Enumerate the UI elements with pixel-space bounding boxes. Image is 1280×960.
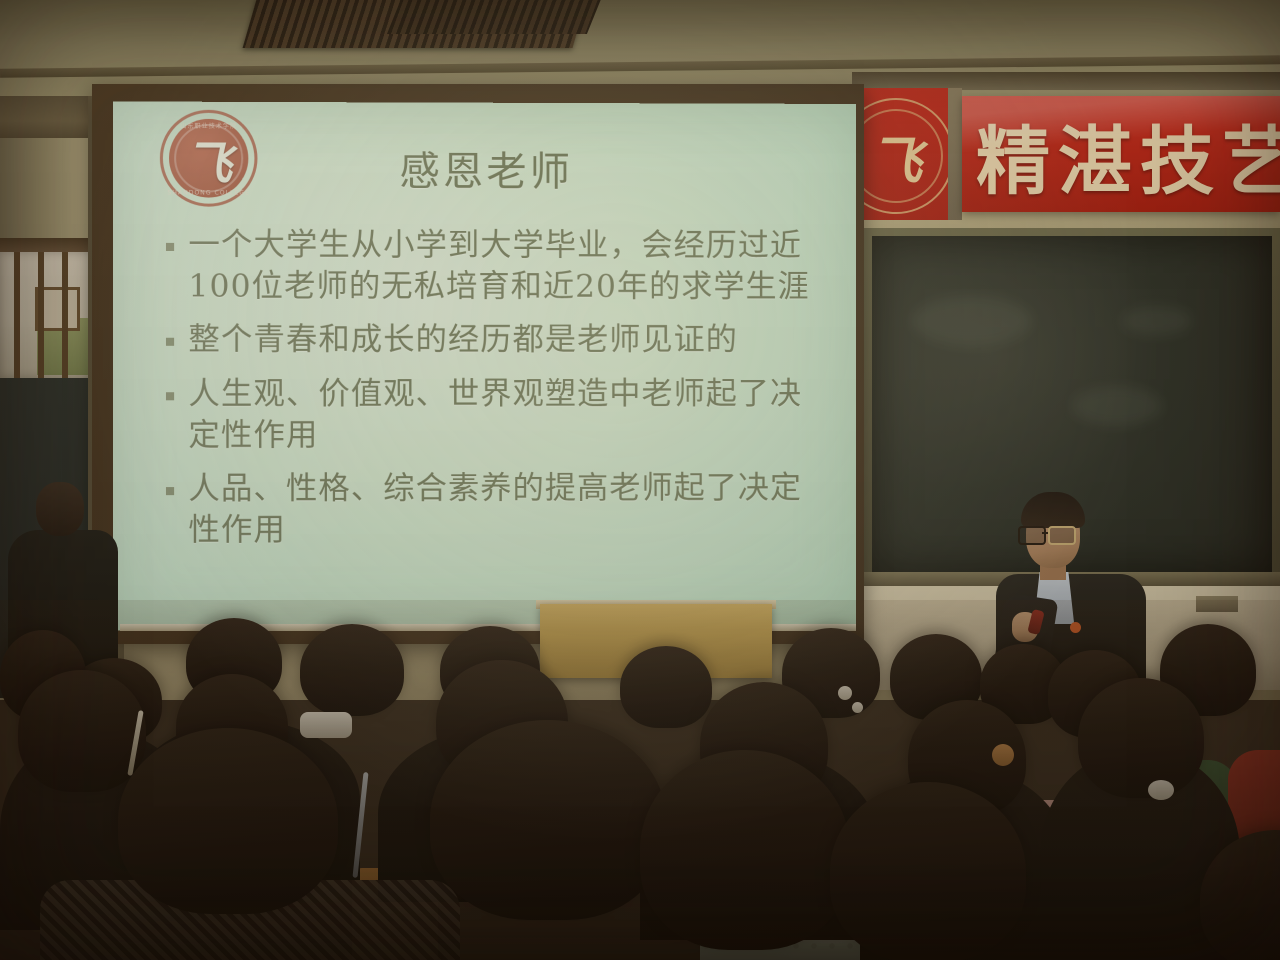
presenter-hair (1021, 492, 1085, 528)
audience (0, 600, 1280, 960)
hair-clip-icon (852, 702, 863, 713)
hair-tie-icon (992, 744, 1014, 766)
audience-head-front (430, 720, 666, 920)
chalk-smudge (1072, 386, 1162, 426)
audience-head-front (118, 728, 338, 914)
bullet-square-icon (166, 338, 174, 346)
slide-title: 感恩老师 (113, 138, 856, 198)
bullet-square-icon (166, 487, 174, 495)
slide-bullet-item: 人品、性格、综合素养的提高老师起了决定性作用 (166, 468, 822, 552)
hair-bow-icon (1148, 780, 1174, 800)
window (0, 252, 92, 383)
photograph-scene: 飞 精湛技艺 山东职业技术学院 飞 SHANDONG COLLEGE 感恩老师 (0, 0, 1280, 960)
window-mullion (62, 252, 68, 378)
wall-banner: 精湛技艺 (962, 96, 1280, 212)
chalk-smudge (912, 296, 1032, 346)
slide-bullet-text: 整个青春和成长的经历都是老师见证的 (188, 320, 737, 362)
slide-bullet-list: 一个大学生从小学到大学毕业，会经历过近100位老师的无私培育和近20年的求学生涯… (166, 225, 822, 565)
chalk-smudge (1122, 306, 1192, 336)
ceiling-vent-secondary-icon (387, 0, 603, 34)
banner-logo-ring-icon: 飞 (852, 98, 948, 214)
glasses-lens-left (1018, 526, 1046, 545)
hair-clip-icon (838, 686, 852, 700)
audience-head (300, 624, 404, 716)
bullet-square-icon (166, 392, 174, 400)
slide-bullet-text: 人生观、价值观、世界观塑造中老师起了决定性作用 (188, 374, 822, 457)
banner-logo-panel: 飞 (852, 88, 948, 220)
slide-bullet-text: 人品、性格、综合素养的提高老师起了决定性作用 (188, 468, 822, 552)
audience-head (620, 646, 712, 728)
banner-gap (948, 88, 962, 220)
audience-head (1078, 678, 1204, 798)
glasses-icon (1018, 526, 1084, 541)
slide-bullet-text: 一个大学生从小学到大学毕业，会经历过近100位老师的无私培育和近20年的求学生涯 (188, 225, 822, 309)
glasses-lens-right (1048, 526, 1076, 545)
slide-bullet-item: 整个青春和成长的经历都是老师见证的 (166, 320, 822, 362)
head-accessory-icon (300, 712, 352, 738)
window-mullion (38, 252, 44, 378)
slide-bullet-item: 人生观、价值观、世界观塑造中老师起了决定性作用 (166, 374, 822, 457)
standing-person-head (36, 482, 84, 536)
banner-logo-glyph: 飞 (852, 100, 948, 212)
audience-head-front (640, 750, 850, 950)
window-mullion (14, 252, 20, 378)
banner-text: 精湛技艺 (976, 102, 1280, 209)
audience-head-front (830, 782, 1026, 960)
slide-bullet-item: 一个大学生从小学到大学毕业，会经历过近100位老师的无私培育和近20年的求学生涯 (166, 225, 822, 309)
bullet-square-icon (166, 243, 174, 251)
projection-screen: 山东职业技术学院 飞 SHANDONG COLLEGE 感恩老师 一个大学生从小… (113, 101, 856, 630)
